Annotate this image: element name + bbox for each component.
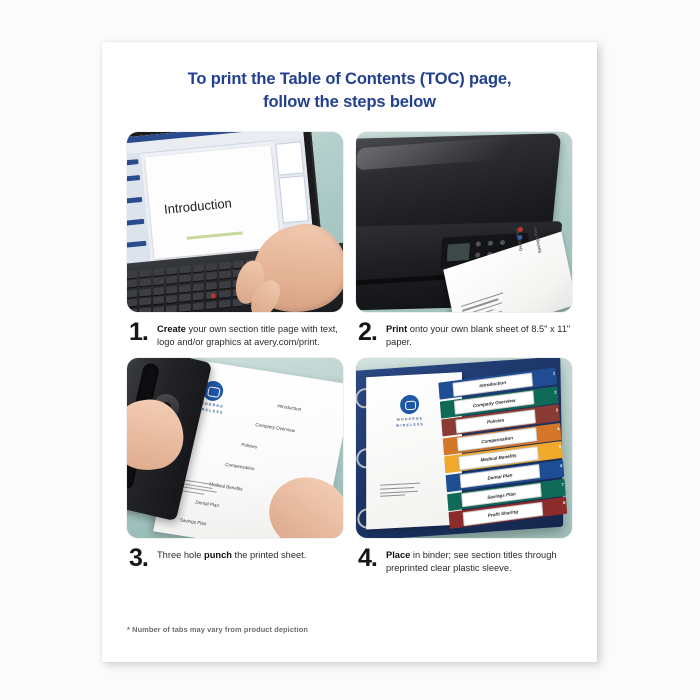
step-2-text: Print onto your own blank sheet of 8.5" … [386,321,572,348]
printer-photo: Dental Plan Savings Plan [356,132,572,312]
step-4: MODERNE WIRELESS Introduction 1 [356,358,572,574]
step-2-number: 2. [358,321,386,344]
sheet-body-lines [461,292,507,312]
tab-number: 3 [556,408,559,413]
toc-entry: Dental Plan [195,500,219,509]
step-4-rest: in binder; see section titles through pr… [386,550,557,573]
footnote: * Number of tabs may vary from product d… [127,625,308,634]
step-1-caption: 1. Create your own section title page wi… [127,321,343,348]
tab-number: 4 [557,426,560,431]
toc-entry: Company Overview [255,423,296,434]
step-2-caption: 2. Print onto your own blank sheet of 8.… [356,321,572,348]
page-title-line1: To print the Table of Contents (TOC) pag… [188,70,512,88]
step-3: MODERNE WIRELESS Introduction Company Ov… [127,358,343,574]
hole-punch-photo: MODERNE WIRELESS Introduction Company Ov… [127,358,343,538]
tab-number: 8 [563,500,566,505]
laptop-photo: Introduction [127,132,343,312]
step-3-pre: Three hole [157,550,204,560]
tab-number: 6 [560,463,563,468]
document-title-text: Introduction [163,195,232,216]
page-title-line2: follow the steps below [102,91,597,114]
document-canvas: Introduction [145,145,280,259]
step-4-bold: Place [386,550,410,560]
toc-entry: Savings Plan [179,518,206,527]
step-1: Introduction [127,132,343,348]
tab-number: 2 [554,389,557,394]
step-2-bold: Print [386,324,407,334]
step-3-caption: 3. Three hole punch the printed sheet. [127,547,343,570]
toc-entry: Policies [241,443,258,450]
page-title: To print the Table of Contents (TOC) pag… [102,68,597,115]
step-4-number: 4. [358,547,386,570]
step-3-text: Three hole punch the printed sheet. [157,547,306,562]
steps-grid: Introduction [127,132,572,575]
tab-number: 5 [559,445,562,450]
step-3-number: 3. [129,547,157,570]
binder-cover: MODERNE WIRELESS Introduction 1 [356,358,563,538]
step-2-rest: onto your own blank sheet of 8.5" x 11" … [386,324,570,347]
step-3-bold: punch [204,550,232,560]
printer-lcd-screen [447,243,470,261]
tab-number: 7 [561,482,564,487]
step-1-bold: Create [157,324,186,334]
tab-number: 1 [553,371,556,376]
index-tabs: Introduction 1 Company Overview 2 Polici… [438,368,567,535]
step-3-rest: the printed sheet. [232,550,306,560]
screenshot-root: To print the Table of Contents (TOC) pag… [0,0,700,700]
lid-highlight [356,137,508,171]
step-4-text: Place in binder; see section titles thro… [386,547,572,574]
toc-entry: Compensation [225,462,255,472]
brand-logo-icon [400,395,419,415]
brand-name: MODERNE WIRELESS [388,416,432,430]
address-block [380,483,420,500]
step-1-text: Create your own section title page with … [157,321,343,348]
instruction-sheet: To print the Table of Contents (TOC) pag… [102,42,597,662]
document-underline [187,231,243,239]
toc-entry: Introduction [277,404,302,413]
binder-photo: MODERNE WIRELESS Introduction 1 [356,358,572,538]
step-4-caption: 4. Place in binder; see section titles t… [356,547,572,574]
step-1-number: 1. [129,321,157,344]
step-2: Dental Plan Savings Plan 2. Print onto y… [356,132,572,348]
